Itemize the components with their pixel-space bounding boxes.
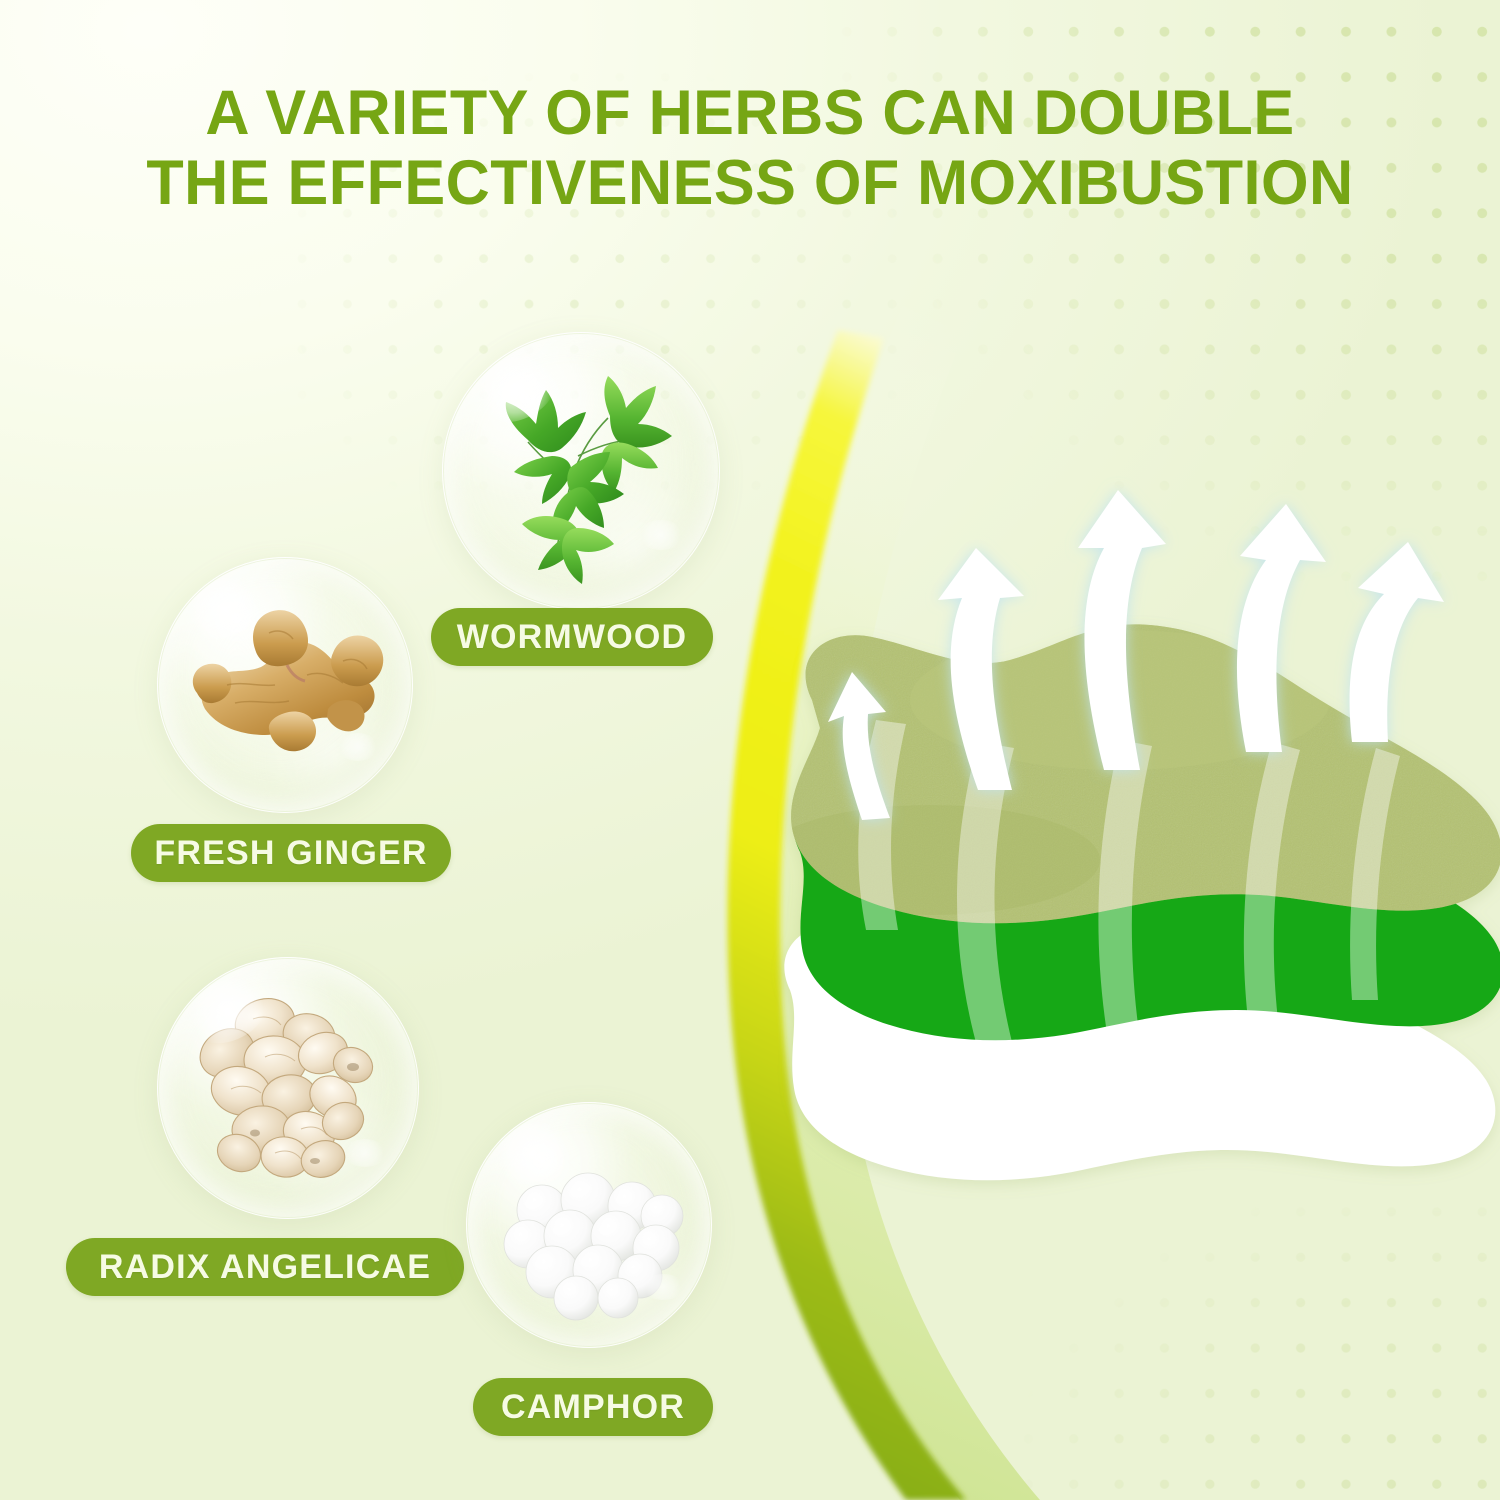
- ingredient-bubble-wormwood[interactable]: [442, 332, 720, 610]
- bubble-highlight-small: [638, 520, 684, 550]
- ingredient-bubble-fresh-ginger[interactable]: [157, 557, 413, 813]
- bubble-highlight-small: [337, 733, 379, 761]
- ingredient-bubble-camphor[interactable]: [466, 1102, 712, 1348]
- camphor-balls-icon: [466, 1102, 712, 1348]
- ginger-root-icon: [157, 557, 413, 813]
- poster-canvas: A VARIETY OF HERBS CAN DOUBLE THE EFFECT…: [0, 0, 1500, 1500]
- page-title: A VARIETY OF HERBS CAN DOUBLE THE EFFECT…: [23, 78, 1478, 218]
- ingredient-label-radix-angelicae: RADIX ANGELICAE: [66, 1238, 464, 1296]
- ingredient-label-fresh-ginger: FRESH GINGER: [131, 824, 451, 882]
- angelica-root-slices-icon: [157, 957, 419, 1219]
- wormwood-icon: [442, 332, 720, 610]
- bubble-highlight-small: [343, 1139, 387, 1167]
- ingredient-bubble-radix-angelicae[interactable]: [157, 957, 419, 1219]
- bubble-highlight-small: [642, 1274, 684, 1300]
- ingredient-label-wormwood: WORMWOOD: [431, 608, 713, 666]
- ingredient-label-camphor: CAMPHOR: [473, 1378, 713, 1436]
